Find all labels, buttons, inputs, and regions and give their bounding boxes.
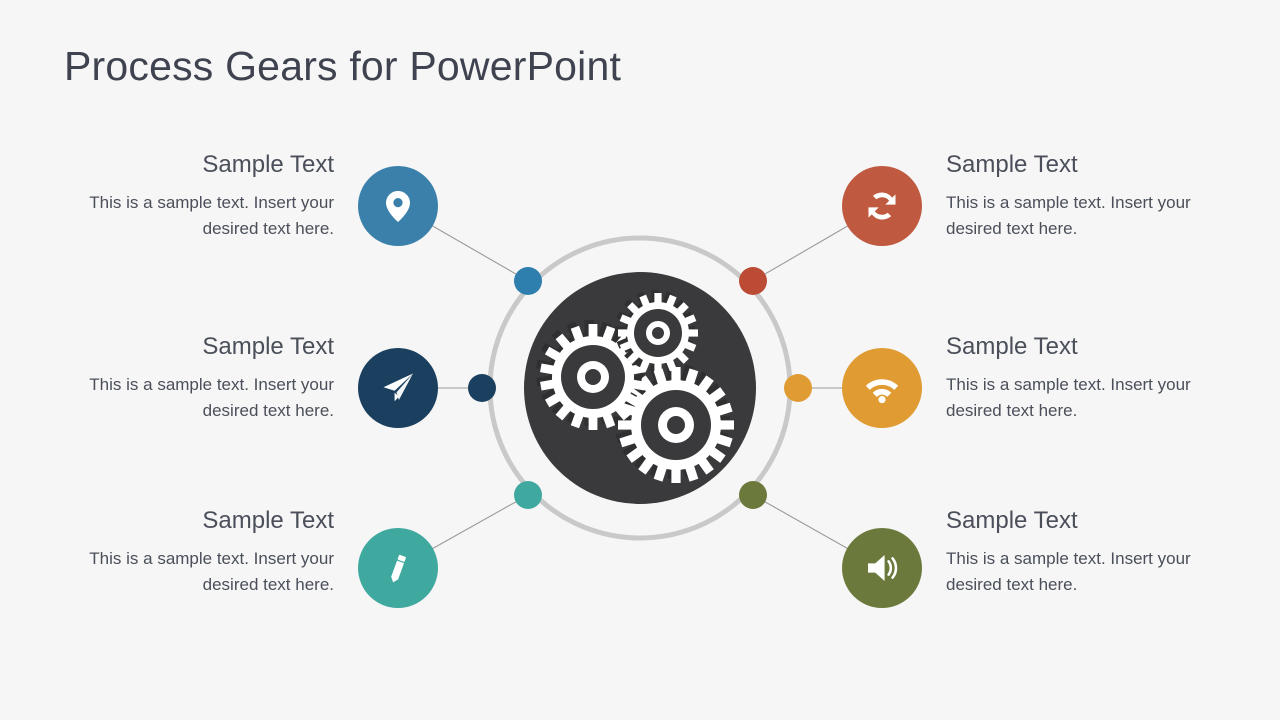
text-block-body: This is a sample text. Insert your desir…: [946, 372, 1192, 422]
slide-canvas: Process Gears for PowerPoint: [0, 0, 1280, 720]
text-block-sound: Sample Text This is a sample text. Inser…: [946, 508, 1192, 597]
text-block-body: This is a sample text. Insert your desir…: [946, 190, 1192, 240]
text-block-title: Sample Text: [88, 508, 334, 534]
text-block-location: Sample Text This is a sample text. Inser…: [88, 152, 334, 241]
text-block-title: Sample Text: [88, 334, 334, 360]
refresh-sync-icon: [861, 185, 903, 227]
paper-plane-icon: [376, 366, 420, 410]
location-pin-icon: [376, 184, 420, 228]
icon-bubble-wifi[interactable]: [842, 348, 922, 428]
text-block-title: Sample Text: [946, 152, 1192, 178]
node-dot-location[interactable]: [514, 267, 542, 295]
node-dot-send[interactable]: [468, 374, 496, 402]
wifi-icon: [860, 366, 904, 410]
text-block-title: Sample Text: [946, 334, 1192, 360]
icon-bubble-edit[interactable]: [358, 528, 438, 608]
node-dot-wifi[interactable]: [784, 374, 812, 402]
node-dot-edit[interactable]: [514, 481, 542, 509]
icon-bubble-location[interactable]: [358, 166, 438, 246]
icon-bubble-send[interactable]: [358, 348, 438, 428]
text-block-title: Sample Text: [946, 508, 1192, 534]
node-dot-sound[interactable]: [739, 481, 767, 509]
speaker-volume-icon: [860, 546, 904, 590]
icon-bubble-sound[interactable]: [842, 528, 922, 608]
text-block-title: Sample Text: [88, 152, 334, 178]
text-block-body: This is a sample text. Insert your desir…: [88, 190, 334, 240]
text-block-body: This is a sample text. Insert your desir…: [88, 546, 334, 596]
text-block-body: This is a sample text. Insert your desir…: [946, 546, 1192, 596]
text-block-body: This is a sample text. Insert your desir…: [88, 372, 334, 422]
text-block-send: Sample Text This is a sample text. Inser…: [88, 334, 334, 423]
pencil-icon: [376, 546, 420, 590]
text-block-refresh: Sample Text This is a sample text. Inser…: [946, 152, 1192, 241]
icon-bubble-refresh[interactable]: [842, 166, 922, 246]
node-dot-refresh[interactable]: [739, 267, 767, 295]
text-block-edit: Sample Text This is a sample text. Inser…: [88, 508, 334, 597]
text-block-wifi: Sample Text This is a sample text. Inser…: [946, 334, 1192, 423]
